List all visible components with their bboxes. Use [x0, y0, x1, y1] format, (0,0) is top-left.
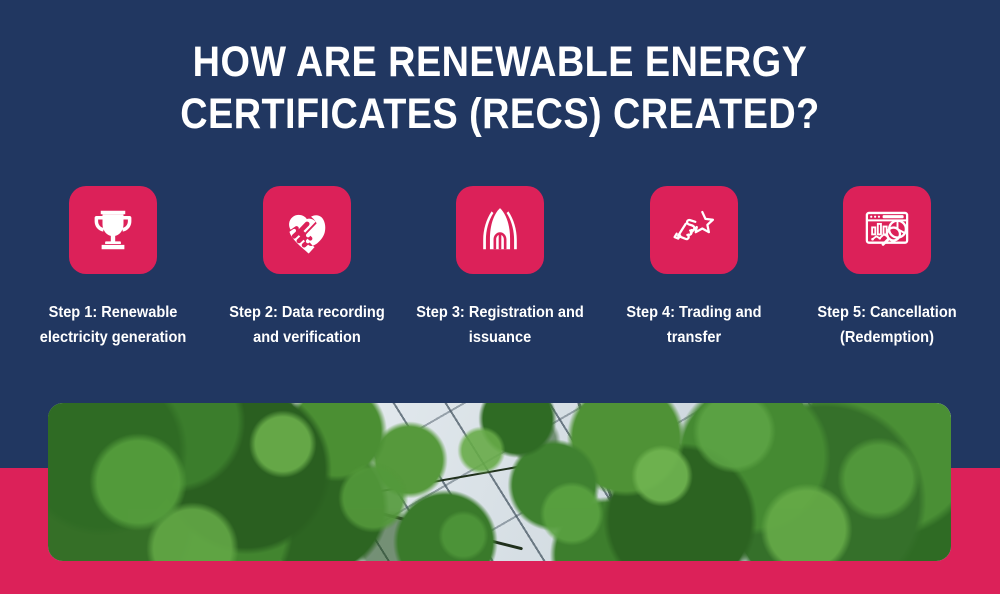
step-5-label: Step 5: Cancellation (Redemption) — [800, 300, 975, 350]
step-2-icon-tile[interactable] — [263, 186, 351, 274]
step-item-1[interactable]: Step 1: Renewable electricity generation — [20, 186, 206, 350]
step-3-icon-tile[interactable] — [456, 186, 544, 274]
arch-dome-icon — [472, 202, 528, 258]
handshake-heart-icon — [279, 202, 335, 258]
trophy-icon — [85, 202, 141, 258]
step-2-label: Step 2: Data recording and verification — [219, 300, 394, 350]
analytics-search-icon — [859, 202, 915, 258]
photo-content — [48, 403, 951, 561]
step-item-2[interactable]: Step 2: Data recording and verification — [214, 186, 400, 350]
step-5-icon-tile[interactable] — [843, 186, 931, 274]
steps-row: Step 1: Renewable electricity generation… — [20, 186, 980, 350]
step-1-label: Step 1: Renewable electricity generation — [26, 300, 201, 350]
step-item-5[interactable]: Step 5: Cancellation (Redemption) — [794, 186, 980, 350]
hand-star-icon — [666, 202, 722, 258]
step-4-label: Step 4: Trading and transfer — [606, 300, 781, 350]
green-trees-glass-building-photo — [48, 403, 951, 561]
step-3-label: Step 3: Registration and issuance — [413, 300, 588, 350]
step-item-4[interactable]: Step 4: Trading and transfer — [601, 186, 787, 350]
photo-foliage-highlights — [48, 403, 951, 561]
step-1-icon-tile[interactable] — [69, 186, 157, 274]
page-title: HOW ARE RENEWABLE ENERGY CERTIFICATES (R… — [60, 36, 940, 140]
infographic-canvas: HOW ARE RENEWABLE ENERGY CERTIFICATES (R… — [0, 0, 1000, 594]
step-4-icon-tile[interactable] — [650, 186, 738, 274]
step-item-3[interactable]: Step 3: Registration and issuance — [407, 186, 593, 350]
